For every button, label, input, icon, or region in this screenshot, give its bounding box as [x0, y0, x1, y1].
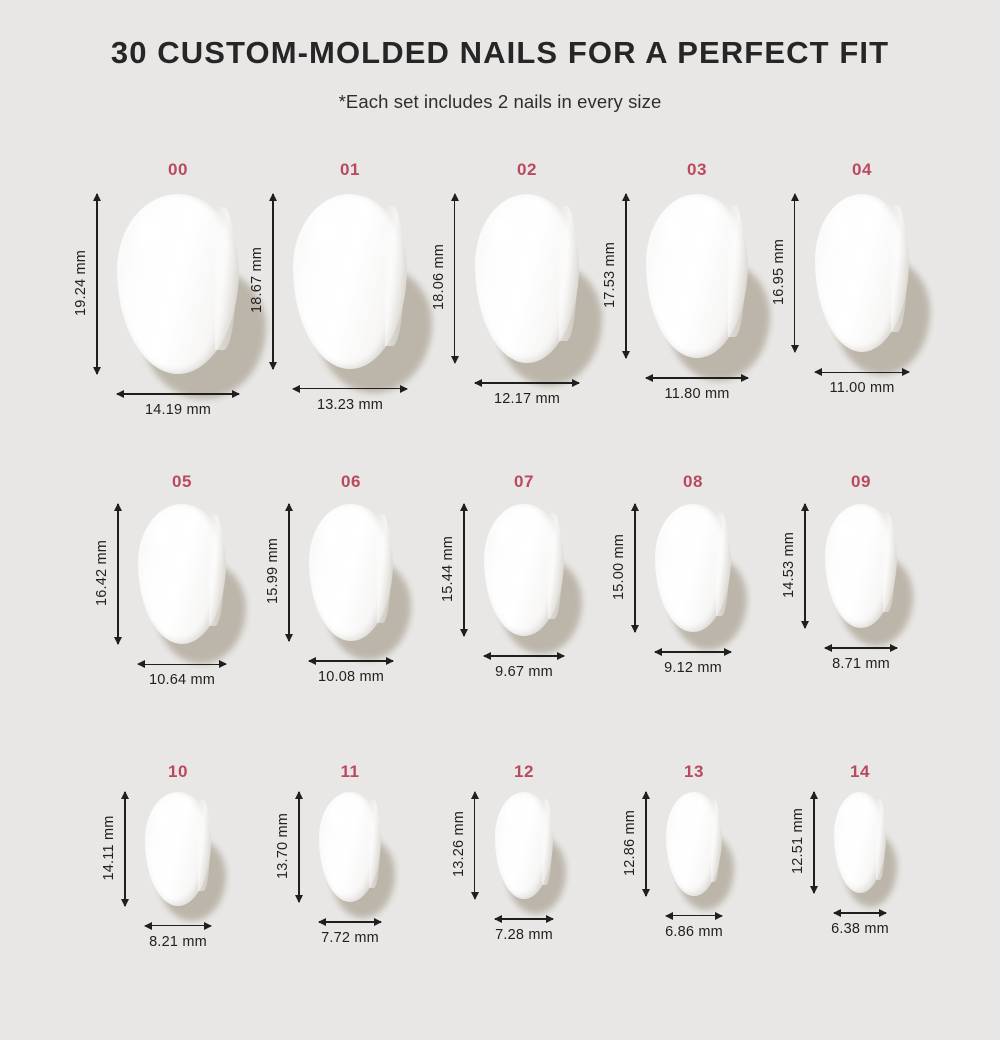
width-dimension-arrow [319, 916, 382, 928]
length-value: 18.67 mm [249, 244, 265, 316]
arrow-shaft [319, 921, 382, 923]
arrow-head-right-icon [400, 385, 408, 393]
arrow-shaft [813, 792, 815, 893]
arrow-shaft [288, 504, 290, 641]
nail-highlight [494, 519, 521, 557]
width-dimension-arrow [145, 920, 212, 932]
arrow-head-left-icon [144, 922, 152, 930]
arrow-head-left-icon [292, 385, 300, 393]
arrow-head-left-icon [308, 657, 316, 665]
width-value: 10.08 mm [291, 669, 411, 685]
arrow-head-up-icon [121, 791, 129, 799]
arrow-head-up-icon [631, 503, 639, 511]
nail-highlight [153, 805, 176, 838]
nail-highlight [149, 520, 179, 561]
arrow-head-up-icon [451, 193, 459, 201]
width-dimension-arrow [834, 907, 886, 919]
nail-highlight [327, 805, 349, 837]
arrow-shaft [474, 792, 476, 899]
width-value: 6.86 mm [634, 924, 754, 940]
width-value: 8.21 mm [118, 934, 238, 950]
length-dimension-arrow [112, 504, 124, 644]
arrow-head-down-icon [285, 634, 293, 642]
width-value: 8.71 mm [801, 656, 921, 672]
width-value: 7.72 mm [290, 930, 410, 946]
arrow-head-down-icon [642, 889, 650, 897]
arrow-head-up-icon [114, 503, 122, 511]
nail-highlight [673, 804, 693, 833]
nail-highlight [659, 213, 693, 260]
arrow-head-right-icon [219, 660, 227, 668]
arrow-head-up-icon [285, 503, 293, 511]
arrow-head-down-icon [471, 892, 479, 900]
width-dimension-arrow [138, 658, 226, 670]
arrow-head-down-icon [451, 356, 459, 364]
length-dimension-arrow [620, 194, 632, 358]
length-value: 13.26 mm [451, 808, 467, 880]
arrow-head-right-icon [879, 909, 887, 917]
arrow-shaft [666, 915, 722, 917]
arrow-shaft [124, 792, 126, 906]
width-dimension-arrow [495, 913, 554, 925]
arrow-head-up-icon [622, 193, 630, 201]
length-value: 15.00 mm [611, 531, 627, 603]
arrow-shaft [298, 792, 300, 902]
arrow-shaft [117, 504, 119, 644]
arrow-shaft [625, 194, 627, 358]
arrow-head-down-icon [631, 625, 639, 633]
width-dimension-arrow [117, 388, 239, 400]
arrow-shaft [804, 504, 806, 628]
length-dimension-arrow [267, 194, 279, 369]
width-value: 14.19 mm [118, 402, 238, 418]
length-dimension-arrow [91, 194, 103, 374]
width-value: 11.80 mm [637, 386, 757, 402]
length-dimension-arrow [799, 504, 811, 628]
nail-highlight [502, 805, 523, 835]
width-dimension-arrow [815, 366, 910, 378]
nail-size-row: 0516.42 mm10.64 mm0615.99 mm10.08 mm0715… [0, 460, 1000, 750]
nail-highlight [834, 518, 859, 554]
width-dimension-arrow [666, 910, 722, 922]
nail-size-label: 00 [148, 160, 208, 180]
arrow-head-right-icon [557, 652, 565, 660]
length-dimension-arrow [789, 194, 801, 352]
length-dimension-arrow [640, 792, 652, 896]
arrow-head-up-icon [801, 503, 809, 511]
arrow-head-up-icon [269, 193, 277, 201]
arrow-head-right-icon [374, 918, 382, 926]
width-value: 6.38 mm [800, 921, 920, 937]
arrow-head-right-icon [204, 922, 212, 930]
length-value: 15.44 mm [440, 533, 456, 605]
arrow-shaft [475, 382, 580, 384]
width-value: 7.28 mm [464, 927, 584, 943]
arrow-shaft [138, 664, 226, 666]
arrow-head-left-icon [654, 648, 662, 656]
arrow-shaft [495, 918, 554, 920]
arrow-head-down-icon [622, 351, 630, 359]
nail-size-label: 09 [831, 472, 891, 492]
arrow-head-down-icon [269, 362, 277, 370]
length-value: 16.95 mm [771, 236, 787, 308]
arrow-shaft [454, 194, 456, 363]
length-value: 12.86 mm [622, 807, 638, 879]
length-value: 18.06 mm [431, 241, 447, 313]
arrow-head-right-icon [741, 374, 749, 382]
nail-size-label: 04 [832, 160, 892, 180]
arrow-head-left-icon [137, 660, 145, 668]
arrow-head-up-icon [471, 791, 479, 799]
arrow-head-down-icon [93, 367, 101, 375]
arrow-head-left-icon [483, 652, 491, 660]
nail-size-label: 07 [494, 472, 554, 492]
length-value: 17.53 mm [602, 239, 618, 311]
nail-highlight [308, 214, 346, 265]
width-value: 11.00 mm [802, 380, 922, 396]
arrow-head-up-icon [460, 503, 468, 511]
arrow-shaft [825, 647, 897, 649]
arrow-head-up-icon [295, 791, 303, 799]
length-dimension-arrow [469, 792, 481, 899]
width-value: 12.17 mm [467, 391, 587, 407]
arrow-head-left-icon [814, 368, 822, 376]
arrow-head-left-icon [474, 379, 482, 387]
length-value: 16.42 mm [94, 537, 110, 609]
arrow-shaft [309, 660, 393, 662]
length-value: 12.51 mm [790, 805, 806, 877]
length-dimension-arrow [458, 504, 470, 636]
arrow-head-down-icon [295, 895, 303, 903]
length-value: 14.11 mm [101, 812, 117, 884]
nail-highlight [134, 214, 174, 267]
arrow-shaft [96, 194, 98, 374]
arrow-shaft [463, 504, 465, 636]
arrow-head-left-icon [833, 909, 841, 917]
arrow-shaft [815, 372, 910, 374]
header: 30 CUSTOM-MOLDED NAILS FOR A PERFECT FIT… [0, 0, 1000, 113]
arrow-head-up-icon [810, 791, 818, 799]
arrow-head-left-icon [824, 644, 832, 652]
arrow-shaft [484, 655, 564, 657]
arrow-head-left-icon [645, 374, 653, 382]
arrow-shaft [794, 194, 796, 352]
arrow-shaft [645, 792, 647, 896]
length-dimension-arrow [629, 504, 641, 632]
nail-size-label: 10 [148, 762, 208, 782]
nail-size-row: 1014.11 mm8.21 mm1113.70 mm7.72 mm1213.2… [0, 750, 1000, 1040]
arrow-head-right-icon [546, 915, 554, 923]
nail-size-row: 0019.24 mm14.19 mm0118.67 mm13.23 mm0218… [0, 148, 1000, 438]
arrow-head-right-icon [724, 648, 732, 656]
length-value: 15.99 mm [265, 535, 281, 607]
nail-highlight [665, 519, 691, 556]
arrow-shaft [646, 377, 747, 379]
nail-size-label: 03 [667, 160, 727, 180]
width-value: 13.23 mm [290, 397, 410, 413]
length-dimension-arrow [808, 792, 820, 893]
arrow-head-up-icon [642, 791, 650, 799]
arrow-shaft [272, 194, 274, 369]
nail-highlight [827, 212, 860, 258]
arrow-head-up-icon [93, 193, 101, 201]
arrow-shaft [655, 651, 731, 653]
page-subtitle: *Each set includes 2 nails in every size [0, 70, 1000, 113]
width-dimension-arrow [646, 372, 747, 384]
arrow-head-down-icon [791, 345, 799, 353]
nail-highlight [840, 804, 859, 832]
nail-size-label: 01 [320, 160, 380, 180]
length-dimension-arrow [293, 792, 305, 902]
width-value: 10.64 mm [122, 672, 242, 688]
length-dimension-arrow [283, 504, 295, 641]
length-value: 19.24 mm [73, 247, 89, 319]
arrow-shaft [293, 388, 407, 390]
arrow-head-left-icon [494, 915, 502, 923]
width-dimension-arrow [825, 642, 897, 654]
arrow-head-up-icon [791, 193, 799, 201]
width-dimension-arrow [655, 646, 731, 658]
nail-size-label: 02 [497, 160, 557, 180]
page-title: 30 CUSTOM-MOLDED NAILS FOR A PERFECT FIT [0, 36, 1000, 70]
arrow-head-left-icon [318, 918, 326, 926]
width-value: 9.12 mm [633, 660, 753, 676]
arrow-head-down-icon [460, 629, 468, 637]
arrow-head-right-icon [890, 644, 898, 652]
length-value: 13.70 mm [275, 810, 291, 882]
arrow-head-left-icon [665, 912, 673, 920]
nail-size-label: 11 [320, 762, 380, 782]
arrow-head-down-icon [801, 621, 809, 629]
arrow-head-left-icon [116, 390, 124, 398]
nail-size-label: 06 [321, 472, 381, 492]
arrow-head-right-icon [232, 390, 240, 398]
width-dimension-arrow [484, 650, 564, 662]
length-dimension-arrow [119, 792, 131, 906]
arrow-head-down-icon [810, 886, 818, 894]
nail-size-label: 05 [152, 472, 212, 492]
length-dimension-arrow [449, 194, 461, 363]
arrow-head-right-icon [902, 368, 910, 376]
width-value: 9.67 mm [464, 664, 584, 680]
arrow-head-right-icon [386, 657, 394, 665]
nail-size-label: 08 [663, 472, 723, 492]
nail-highlight [488, 213, 523, 262]
nail-size-label: 13 [664, 762, 724, 782]
nail-highlight [320, 520, 348, 559]
arrow-shaft [634, 504, 636, 632]
nail-size-label: 14 [830, 762, 890, 782]
arrow-head-down-icon [121, 899, 129, 907]
nail-size-label: 12 [494, 762, 554, 782]
width-dimension-arrow [475, 377, 580, 389]
width-dimension-arrow [309, 655, 393, 667]
length-value: 14.53 mm [781, 529, 797, 601]
arrow-head-right-icon [715, 912, 723, 920]
arrow-shaft [145, 925, 212, 927]
arrow-head-down-icon [114, 637, 122, 645]
arrow-shaft [117, 393, 239, 395]
width-dimension-arrow [293, 383, 407, 395]
arrow-head-right-icon [572, 379, 580, 387]
